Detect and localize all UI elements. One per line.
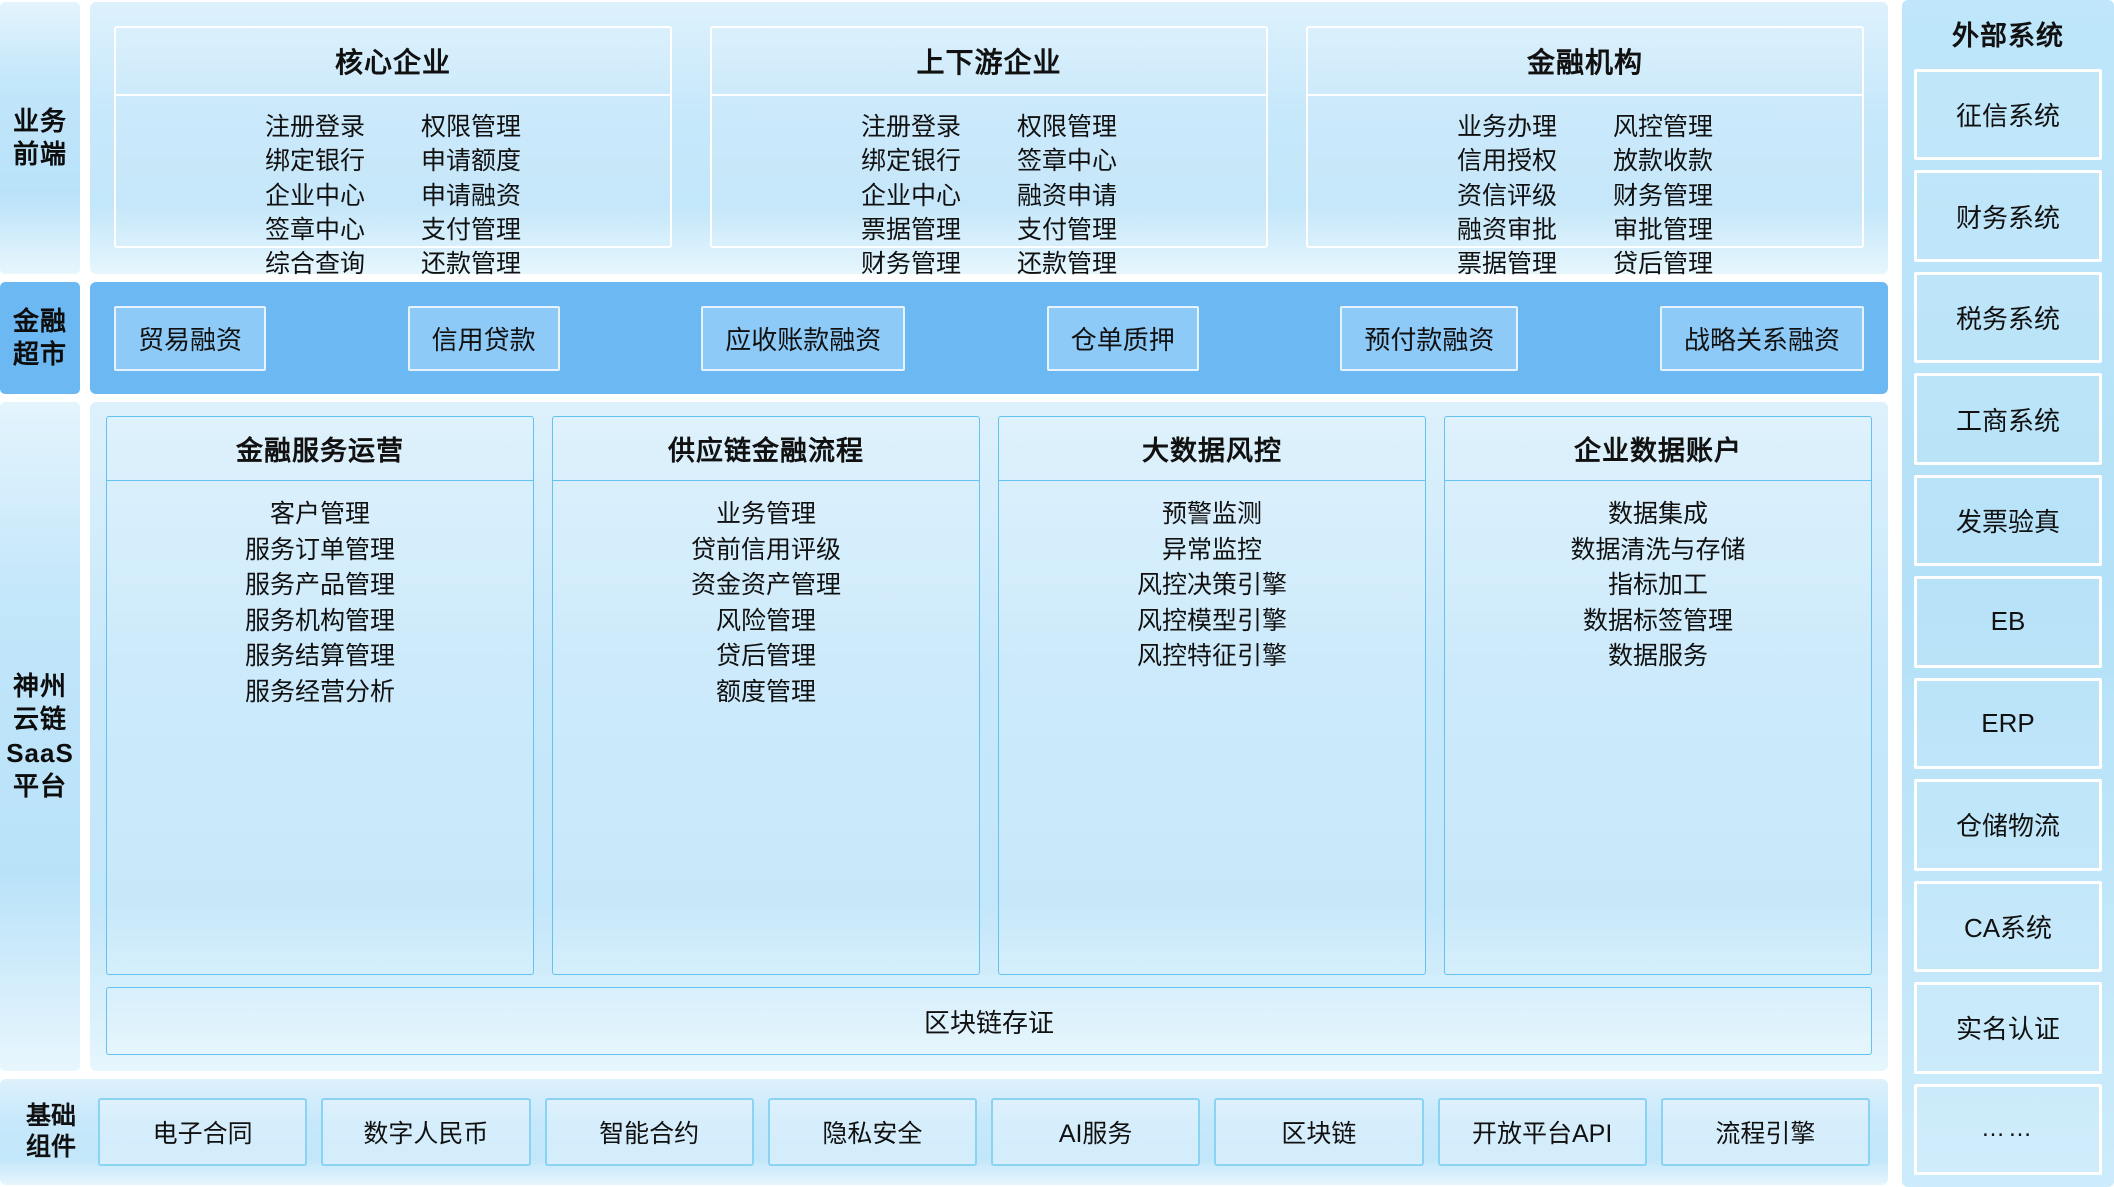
band-base-components: 基础 组件 电子合同 数字人民币 智能合约 隐私安全 AI服务 区块链 开放平台… [0, 1079, 1888, 1185]
saas-card-enterprise-data-account[interactable]: 企业数据账户 数据集成 数据清洗与存储 指标加工 数据标签管理 数据服务 [1444, 416, 1872, 975]
front-card-item[interactable]: 签章中心 [1017, 144, 1117, 178]
front-card-item[interactable]: 支付管理 [421, 213, 521, 247]
front-card-core-enterprise[interactable]: 核心企业 注册登录 绑定银行 企业中心 签章中心 综合查询 权限管理 [114, 26, 672, 248]
front-card-column-right: 权限管理 签章中心 融资申请 支付管理 还款管理 [1017, 110, 1117, 281]
front-card-item[interactable]: 申请融资 [421, 179, 521, 213]
saas-card-title: 企业数据账户 [1445, 417, 1871, 481]
base-chip-open-platform-api[interactable]: 开放平台API [1438, 1098, 1647, 1166]
external-system-credit-reporting[interactable]: 征信系统 [1914, 69, 2102, 160]
external-system-invoice-verification[interactable]: 发票验真 [1914, 475, 2102, 566]
front-card-item[interactable]: 贷后管理 [1613, 247, 1713, 281]
external-system-eb[interactable]: EB [1914, 576, 2102, 667]
saas-card-item[interactable]: 贷前信用评级 [691, 533, 841, 569]
front-card-item[interactable]: 注册登录 [265, 110, 365, 144]
external-system-erp[interactable]: ERP [1914, 678, 2102, 769]
saas-card-item[interactable]: 数据清洗与存储 [1570, 533, 1745, 569]
base-chip-privacy-security[interactable]: 隐私安全 [768, 1098, 977, 1166]
base-components-label-line-1: 基础 [18, 1101, 84, 1132]
market-chip-strategic-relationship-finance[interactable]: 战略关系融资 [1660, 306, 1864, 371]
front-card-item[interactable]: 还款管理 [1017, 247, 1117, 281]
front-card-item[interactable]: 企业中心 [861, 179, 961, 213]
panel-business-frontend: 核心企业 注册登录 绑定银行 企业中心 签章中心 综合查询 权限管理 [90, 2, 1888, 274]
external-system-real-name-authentication[interactable]: 实名认证 [1914, 982, 2102, 1073]
front-card-column-left: 注册登录 绑定银行 企业中心 签章中心 综合查询 [265, 110, 365, 281]
external-system-more[interactable]: …… [1914, 1084, 2102, 1175]
base-chip-smart-contract[interactable]: 智能合约 [545, 1098, 754, 1166]
front-card-item[interactable]: 财务管理 [1613, 179, 1713, 213]
saas-card-item[interactable]: 指标加工 [1608, 568, 1708, 604]
external-system-finance[interactable]: 财务系统 [1914, 170, 2102, 261]
front-card-item[interactable]: 注册登录 [861, 110, 961, 144]
saas-card-item[interactable]: 数据集成 [1608, 497, 1708, 533]
front-card-item[interactable]: 综合查询 [265, 247, 365, 281]
saas-card-item[interactable]: 服务订单管理 [245, 533, 395, 569]
architecture-diagram: 业务 前端 核心企业 注册登录 绑定银行 企业中心 签章中心 [0, 0, 2114, 1187]
row-label-line-1: 神州 [6, 670, 74, 703]
row-label-business-frontend: 业务 前端 [0, 2, 80, 274]
base-chip-ai-service[interactable]: AI服务 [991, 1098, 1200, 1166]
front-card-column-right: 风控管理 放款收款 财务管理 审批管理 贷后管理 [1613, 110, 1713, 281]
panel-financial-supermarket: 贸易融资 信用贷款 应收账款融资 仓单质押 预付款融资 战略关系融资 [90, 282, 1888, 394]
base-components-label: 基础 组件 [18, 1101, 84, 1164]
row-label-line-1: 业务 [13, 105, 67, 138]
front-card-item[interactable]: 申请额度 [421, 144, 521, 178]
saas-card-item[interactable]: 额度管理 [716, 675, 816, 711]
front-card-item[interactable]: 融资审批 [1457, 213, 1557, 247]
saas-card-item[interactable]: 风控决策引擎 [1137, 568, 1287, 604]
external-systems-sidebar: 外部系统 征信系统 财务系统 税务系统 工商系统 发票验真 EB ERP 仓储物… [1902, 0, 2114, 1187]
saas-card-item[interactable]: 贷后管理 [716, 639, 816, 675]
row-label-line-3: SaaS [6, 737, 74, 770]
saas-card-item[interactable]: 异常监控 [1162, 533, 1262, 569]
band-financial-supermarket: 金融 超市 贸易融资 信用贷款 应收账款融资 仓单质押 预付款融资 战略关系融资 [0, 282, 1888, 394]
band-business-frontend: 业务 前端 核心企业 注册登录 绑定银行 企业中心 签章中心 [0, 2, 1888, 274]
base-chip-blockchain[interactable]: 区块链 [1214, 1098, 1423, 1166]
market-chip-prepayment-finance[interactable]: 预付款融资 [1340, 306, 1518, 371]
row-label-line-2: 前端 [13, 138, 67, 171]
external-system-tax[interactable]: 税务系统 [1914, 272, 2102, 363]
front-card-item[interactable]: 权限管理 [421, 110, 521, 144]
front-card-item[interactable]: 融资申请 [1017, 179, 1117, 213]
saas-card-big-data-risk-control[interactable]: 大数据风控 预警监测 异常监控 风控决策引擎 风控模型引擎 风控特征引擎 [998, 416, 1426, 975]
front-card-item[interactable]: 审批管理 [1613, 213, 1713, 247]
external-system-warehouse-logistics[interactable]: 仓储物流 [1914, 779, 2102, 870]
saas-card-financial-service-operation[interactable]: 金融服务运营 客户管理 服务订单管理 服务产品管理 服务机构管理 服务结算管理 … [106, 416, 534, 975]
front-card-item[interactable]: 绑定银行 [265, 144, 365, 178]
row-label-line-2: 超市 [13, 338, 67, 371]
front-card-column-left: 业务办理 信用授权 资信评级 融资审批 票据管理 [1457, 110, 1557, 281]
front-card-item[interactable]: 企业中心 [265, 179, 365, 213]
front-card-column-right: 权限管理 申请额度 申请融资 支付管理 还款管理 [421, 110, 521, 281]
row-label-financial-supermarket: 金融 超市 [0, 282, 80, 394]
saas-card-item[interactable]: 预警监测 [1162, 497, 1262, 533]
base-chip-digital-rmb[interactable]: 数字人民币 [321, 1098, 530, 1166]
front-card-financial-institution[interactable]: 金融机构 业务办理 信用授权 资信评级 融资审批 票据管理 风控管理 [1306, 26, 1864, 248]
external-system-business-registration[interactable]: 工商系统 [1914, 373, 2102, 464]
front-card-item[interactable]: 支付管理 [1017, 213, 1117, 247]
saas-card-item[interactable]: 服务机构管理 [245, 604, 395, 640]
saas-card-item[interactable]: 业务管理 [716, 497, 816, 533]
saas-card-item[interactable]: 服务产品管理 [245, 568, 395, 604]
front-card-item[interactable]: 绑定银行 [861, 144, 961, 178]
external-system-ca[interactable]: CA系统 [1914, 881, 2102, 972]
saas-card-title: 大数据风控 [999, 417, 1425, 481]
market-chip-receivables-finance[interactable]: 应收账款融资 [701, 306, 905, 371]
front-card-item[interactable]: 放款收款 [1613, 144, 1713, 178]
saas-card-title: 金融服务运营 [107, 417, 533, 481]
market-chip-warehouse-receipt-pledge[interactable]: 仓单质押 [1047, 306, 1199, 371]
saas-card-item[interactable]: 客户管理 [270, 497, 370, 533]
front-card-title: 金融机构 [1308, 28, 1862, 96]
front-card-item[interactable]: 风控管理 [1613, 110, 1713, 144]
front-card-item[interactable]: 业务办理 [1457, 110, 1557, 144]
saas-card-item[interactable]: 数据标签管理 [1583, 604, 1733, 640]
base-components-label-line-2: 组件 [18, 1132, 84, 1163]
front-card-item[interactable]: 票据管理 [1457, 247, 1557, 281]
saas-card-supply-chain-finance-process[interactable]: 供应链金融流程 业务管理 贷前信用评级 资金资产管理 风险管理 贷后管理 额度管… [552, 416, 980, 975]
saas-card-title: 供应链金融流程 [553, 417, 979, 481]
saas-blockchain-evidence-bar[interactable]: 区块链存证 [106, 987, 1872, 1055]
main-column: 业务 前端 核心企业 注册登录 绑定银行 企业中心 签章中心 [0, 0, 1888, 1187]
front-card-item[interactable]: 票据管理 [861, 213, 961, 247]
front-card-item[interactable]: 资信评级 [1457, 179, 1557, 213]
market-chip-trade-finance[interactable]: 贸易融资 [114, 306, 266, 371]
saas-card-item[interactable]: 服务经营分析 [245, 675, 395, 711]
row-label-line-2: 云链 [6, 703, 74, 736]
front-card-column-left: 注册登录 绑定银行 企业中心 票据管理 财务管理 [861, 110, 961, 281]
front-card-upstream-downstream-enterprise[interactable]: 上下游企业 注册登录 绑定银行 企业中心 票据管理 财务管理 权限管理 [710, 26, 1268, 248]
saas-card-item[interactable]: 风险管理 [716, 604, 816, 640]
base-chip-electronic-contract[interactable]: 电子合同 [98, 1098, 307, 1166]
saas-card-item[interactable]: 资金资产管理 [691, 568, 841, 604]
panel-base-components: 基础 组件 电子合同 数字人民币 智能合约 隐私安全 AI服务 区块链 开放平台… [0, 1079, 1888, 1185]
saas-card-item[interactable]: 服务结算管理 [245, 639, 395, 675]
row-label-line-1: 金融 [13, 305, 67, 338]
saas-card-item[interactable]: 数据服务 [1608, 639, 1708, 675]
saas-card-item[interactable]: 风控模型引擎 [1137, 604, 1287, 640]
row-label-saas-platform: 神州 云链 SaaS 平台 [0, 402, 80, 1071]
front-card-item[interactable]: 权限管理 [1017, 110, 1117, 144]
band-saas-platform: 神州 云链 SaaS 平台 金融服务运营 客户管理 服务订单管理 服务产 [0, 402, 1888, 1071]
market-chip-credit-loan[interactable]: 信用贷款 [408, 306, 560, 371]
front-card-item[interactable]: 签章中心 [265, 213, 365, 247]
front-card-title: 上下游企业 [712, 28, 1266, 96]
front-card-item[interactable]: 还款管理 [421, 247, 521, 281]
saas-card-item[interactable]: 风控特征引擎 [1137, 639, 1287, 675]
base-chip-process-engine[interactable]: 流程引擎 [1661, 1098, 1870, 1166]
external-systems-title: 外部系统 [1952, 10, 2064, 59]
front-card-item[interactable]: 信用授权 [1457, 144, 1557, 178]
front-card-title: 核心企业 [116, 28, 670, 96]
row-label-line-4: 平台 [6, 770, 74, 803]
front-card-item[interactable]: 财务管理 [861, 247, 961, 281]
panel-saas-platform: 金融服务运营 客户管理 服务订单管理 服务产品管理 服务机构管理 服务结算管理 … [90, 402, 1888, 1071]
